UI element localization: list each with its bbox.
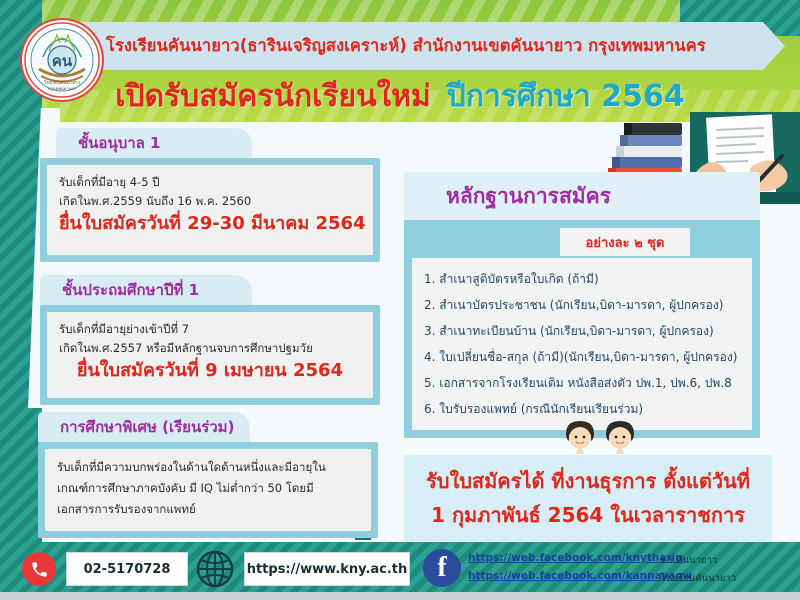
section-card-special-education: รับเด็กที่มีความบกพร่องในด้านใดด้านหนึ่ง… (38, 442, 378, 538)
documents-title-label: หลักฐานการสมัคร (446, 180, 611, 213)
svg-text:โรงเรียนคันนายาว: โรงเรียนคันนายาว (44, 79, 81, 85)
section-tab-special-education: การศึกษาพิเศษ (เรียนร่วม) (38, 412, 250, 442)
section-card-kindergarten: รับเด็กที่มีอายุ 4-5 ปี เกิดในพ.ศ.2559 น… (40, 158, 380, 262)
list-item: 2. สำเนาบัตรประชาชน (นักเรียน,บิดา-มารดา… (424, 292, 740, 318)
globe-icon (196, 550, 234, 588)
documents-list: 1. สำเนาสูติบัตรหรือใบเกิด (ถ้ามี) 2. สำ… (412, 258, 752, 430)
facebook-note-2: โรงเรียนคันนายาว (660, 571, 736, 586)
section-card-primary1: รับเด็กที่มีอายุย่างเข้าปีที่ 7 เกิดในพ.… (40, 305, 380, 405)
documents-badge-label: อย่างละ ๒ ชุด (586, 232, 665, 253)
poster-title-year: ปีการศึกษา 2564 (447, 73, 685, 120)
school-emblem-icon: คน โรงเรียนคันนายาว กรุงเทพมหานคร (20, 18, 104, 102)
list-item: 3. สำเนาทะเบียนบ้าน (นักเรียน,บิดา-มารดา… (424, 318, 740, 344)
list-item: 4. ใบเปลี่ยนชื่อ-สกุล (ถ้ามี)(นักเรียน,บ… (424, 344, 740, 370)
section-line: รับเด็กที่มีอายุ 4-5 ปี (59, 173, 361, 192)
section-highlight-date: ยื่นใบสมัครวันที่ 29-30 มีนาคม 2564 (59, 211, 361, 237)
notice-line-2: 1 กุมภาพันธ์ 2564 ในเวลาราชการ (431, 498, 745, 532)
section-line: รับเด็กที่มีความบกพร่องในด้านใดด้านหนึ่ง… (57, 457, 359, 478)
section-card-body: รับเด็กที่มีความบกพร่องในด้านใดด้านหนึ่ง… (45, 449, 371, 531)
list-item: 5. เอกสารจากโรงเรียนเดิม หนังสือส่งตัว ป… (424, 370, 740, 396)
section-line: เอกสารการรับรองจากแพทย์ (57, 499, 359, 520)
list-item: 1. สำเนาสูติบัตรหรือใบเกิด (ถ้ามี) (424, 266, 740, 292)
section-card-body: รับเด็กที่มีอายุ 4-5 ปี เกิดในพ.ศ.2559 น… (47, 165, 373, 255)
poster-root: โรงเรียนคันนายาว(ธารินเจริญสงเคราะห์) สำ… (0, 0, 800, 600)
phone-number: 02-5170728 (84, 562, 171, 577)
section-line: เกิดในพ.ศ.2557 หรือมีหลักฐานจบการศึกษาปฐ… (59, 339, 361, 358)
children-wai-illustration (552, 418, 648, 460)
phone-icon (22, 552, 56, 586)
notice-line-1: รับใบสมัครได้ ที่งานธุรการ ตั้งแต่วันที่ (426, 464, 750, 498)
facebook-link-1[interactable]: https://web.facebook.com/knytharin (468, 552, 683, 564)
section-tab-label: ชั้นประถมศึกษาปีที่ 1 (62, 278, 199, 302)
website-url: https://www.kny.ac.th (247, 562, 408, 577)
phone-number-box: 02-5170728 (66, 552, 188, 586)
school-name-text: โรงเรียนคันนายาว(ธารินเจริญสงเคราะห์) สำ… (106, 33, 706, 59)
section-line: เกิดในพ.ศ.2559 นับถึง 16 พ.ค. 2560 (59, 192, 361, 211)
frame-bottom-cap (0, 592, 800, 600)
facebook-icon[interactable]: f (423, 549, 461, 587)
poster-title-main: เปิดรับสมัครนักเรียนใหม่ (115, 73, 431, 120)
svg-text:คน: คน (52, 53, 73, 70)
school-name-ribbon: โรงเรียนคันนายาว(ธารินเจริญสงเคราะห์) สำ… (60, 22, 785, 70)
facebook-note-1: ร.ร.คันนายาว (660, 553, 717, 568)
section-tab-label: ชั้นอนุบาล 1 (78, 131, 161, 155)
facebook-link-2[interactable]: https://web.facebook.com/kannayaow (468, 570, 692, 582)
poster-title: เปิดรับสมัครนักเรียนใหม่ ปีการศึกษา 2564 (0, 74, 800, 118)
section-card-body: รับเด็กที่มีอายุย่างเข้าปีที่ 7 เกิดในพ.… (47, 312, 373, 398)
section-tab-label: การศึกษาพิเศษ (เรียนร่วม) (60, 415, 234, 439)
section-tab-primary1: ชั้นประถมศึกษาปีที่ 1 (40, 275, 252, 305)
section-line: รับเด็กที่มีอายุย่างเข้าปีที่ 7 (59, 320, 361, 339)
application-pickup-notice: รับใบสมัครได้ ที่งานธุรการ ตั้งแต่วันที่… (404, 455, 772, 541)
section-highlight-date: ยื่นใบสมัครวันที่ 9 เมษายน 2564 (59, 358, 361, 384)
section-line: เกณฑ์การศึกษาภาคบังคับ มี IQ ไม่ต่ำกว่า … (57, 478, 359, 499)
section-tab-kindergarten: ชั้นอนุบาล 1 (56, 128, 252, 158)
website-box[interactable]: https://www.kny.ac.th (244, 552, 410, 586)
documents-badge: อย่างละ ๒ ชุด (560, 228, 690, 256)
documents-title: หลักฐานการสมัคร (404, 172, 760, 220)
